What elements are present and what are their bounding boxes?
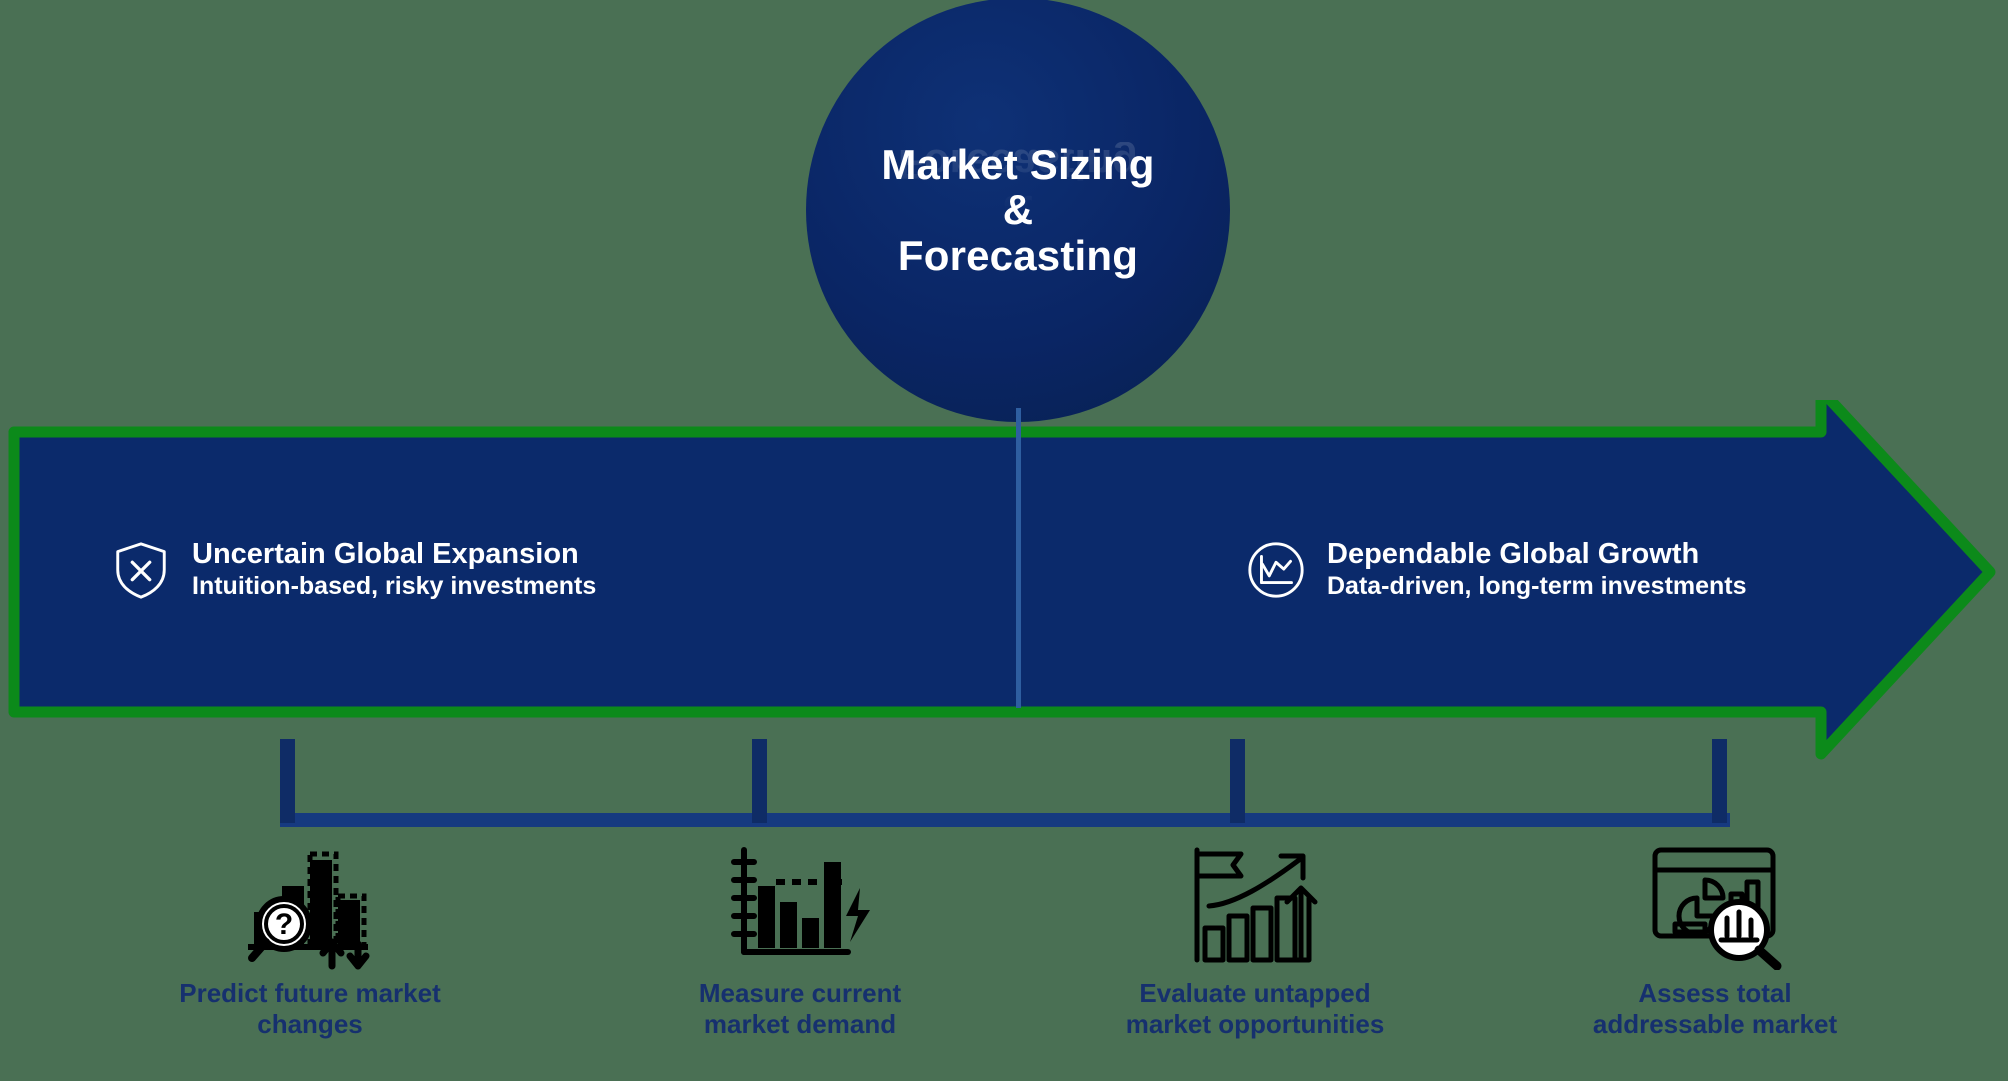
shield-x-icon — [110, 539, 172, 601]
step-item: Assess total addressable market — [1555, 840, 1875, 1039]
step-caption: Evaluate untapped market opportunities — [1126, 978, 1385, 1039]
bar-chart-magnifier-question-icon: ? — [230, 840, 390, 970]
bracket-tick — [280, 739, 295, 823]
bar-chart-axis-lightning-icon — [720, 840, 880, 970]
arrow-right-state: Dependable Global Growth Data-driven, lo… — [1245, 538, 1747, 601]
bracket-with-ticks — [280, 735, 1730, 835]
infographic-canvas: Market Sizing & Forecasting Market Sizin… — [0, 0, 2008, 1081]
hub-title: Market Sizing & Forecasting — [881, 142, 1154, 278]
arrow-left-headline: Uncertain Global Expansion — [192, 538, 579, 570]
hub-circle: Market Sizing & Forecasting Market Sizin… — [806, 0, 1230, 422]
arrow-left-state: Uncertain Global Expansion Intuition-bas… — [110, 538, 596, 601]
step-caption: Predict future market changes — [179, 978, 441, 1039]
arrow-left-subtext: Intuition-based, risky investments — [192, 572, 596, 601]
vertical-connector-line — [1016, 408, 1021, 708]
bracket-tick — [1230, 739, 1245, 823]
arrow-left-text: Uncertain Global Expansion Intuition-bas… — [192, 538, 596, 601]
step-caption: Assess total addressable market — [1593, 978, 1837, 1039]
step-caption: Measure current market demand — [699, 978, 901, 1039]
step-item: Measure current market demand — [640, 840, 960, 1039]
svg-text:?: ? — [275, 908, 293, 941]
arrow-right-headline: Dependable Global Growth — [1327, 538, 1699, 570]
flag-growth-arrow-bars-icon — [1175, 840, 1335, 970]
bracket-tick — [752, 739, 767, 823]
arrow-right-text: Dependable Global Growth Data-driven, lo… — [1327, 538, 1747, 601]
bracket-tick — [1712, 739, 1727, 823]
dashboard-magnifier-icon — [1635, 840, 1795, 970]
step-item: ? Predict future market changes — [150, 840, 470, 1039]
arrow-right-subtext: Data-driven, long-term investments — [1327, 572, 1747, 601]
step-item: Evaluate untapped market opportunities — [1095, 840, 1415, 1039]
bracket-baseline — [280, 813, 1730, 827]
chart-circle-icon — [1245, 539, 1307, 601]
